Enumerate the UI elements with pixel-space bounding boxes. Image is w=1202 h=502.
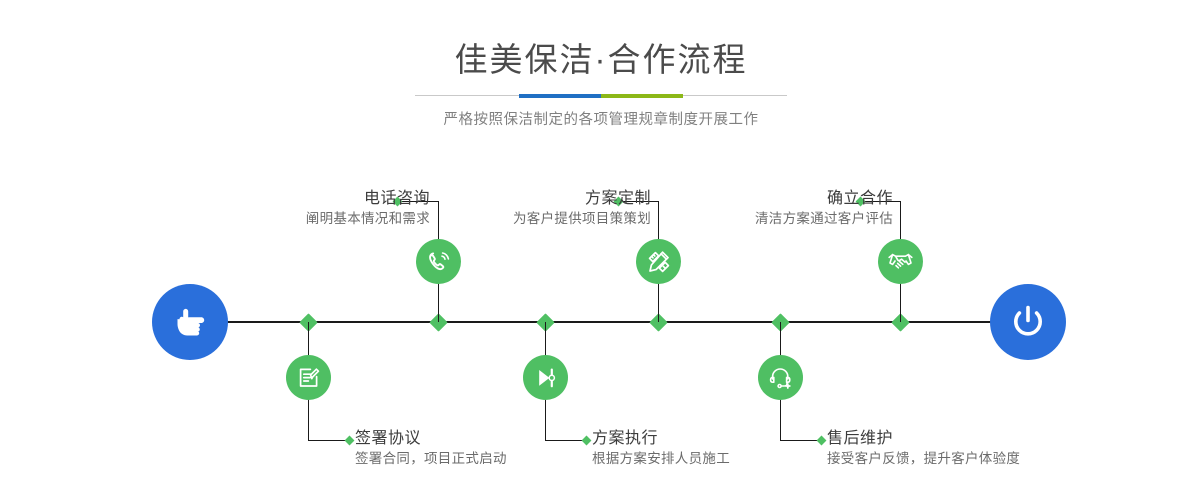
pencil-ruler-icon (646, 249, 672, 275)
step-title-3: 方案定制 (431, 188, 651, 209)
start-node[interactable] (152, 284, 228, 360)
step-title-5: 确立合作 (673, 188, 893, 209)
header: 佳美保洁·合作流程 严格按照保洁制定的各项管理规章制度开展工作 (0, 0, 1202, 130)
headset-support-icon (768, 365, 794, 391)
step-label-3: 方案定制 为客户提供项目策策划 (431, 188, 651, 229)
divider-blue-segment (519, 94, 601, 98)
step-label-6: 售后维护 接受客户反馈，提升客户体验度 (827, 428, 1157, 469)
connector-endpoint-step-2 (345, 436, 355, 446)
page-title: 佳美保洁·合作流程 (0, 40, 1202, 80)
step-node-2[interactable] (286, 355, 331, 400)
title-divider (415, 94, 787, 98)
document-pen-icon (296, 365, 322, 391)
step-title-1: 电话咨询 (210, 188, 430, 209)
step-node-4[interactable] (523, 355, 568, 400)
step-label-5: 确立合作 清洁方案通过客户评估 (673, 188, 893, 229)
step-node-3[interactable] (636, 239, 681, 284)
step-desc-5: 清洁方案通过客户评估 (673, 209, 893, 229)
step-desc-1: 阐明基本情况和需求 (210, 209, 430, 229)
connector-hline-step-2 (308, 440, 349, 441)
step-node-6[interactable] (758, 355, 803, 400)
step-desc-3: 为客户提供项目策策划 (431, 209, 651, 229)
step-node-5[interactable] (878, 239, 923, 284)
handshake-icon (887, 248, 914, 275)
process-flow-infographic: 佳美保洁·合作流程 严格按照保洁制定的各项管理规章制度开展工作 (0, 0, 1202, 502)
step-label-1: 电话咨询 阐明基本情况和需求 (210, 188, 430, 229)
phone-call-icon (426, 249, 452, 275)
play-forward-icon (533, 365, 559, 391)
power-button-icon (1007, 301, 1049, 343)
divider-green-segment (601, 94, 683, 98)
step-node-1[interactable] (416, 239, 461, 284)
step-desc-6: 接受客户反馈，提升客户体验度 (827, 449, 1157, 469)
end-node[interactable] (990, 284, 1066, 360)
page-subtitle: 严格按照保洁制定的各项管理规章制度开展工作 (0, 110, 1202, 130)
pointing-hand-icon (170, 302, 210, 342)
step-title-6: 售后维护 (827, 428, 1157, 449)
